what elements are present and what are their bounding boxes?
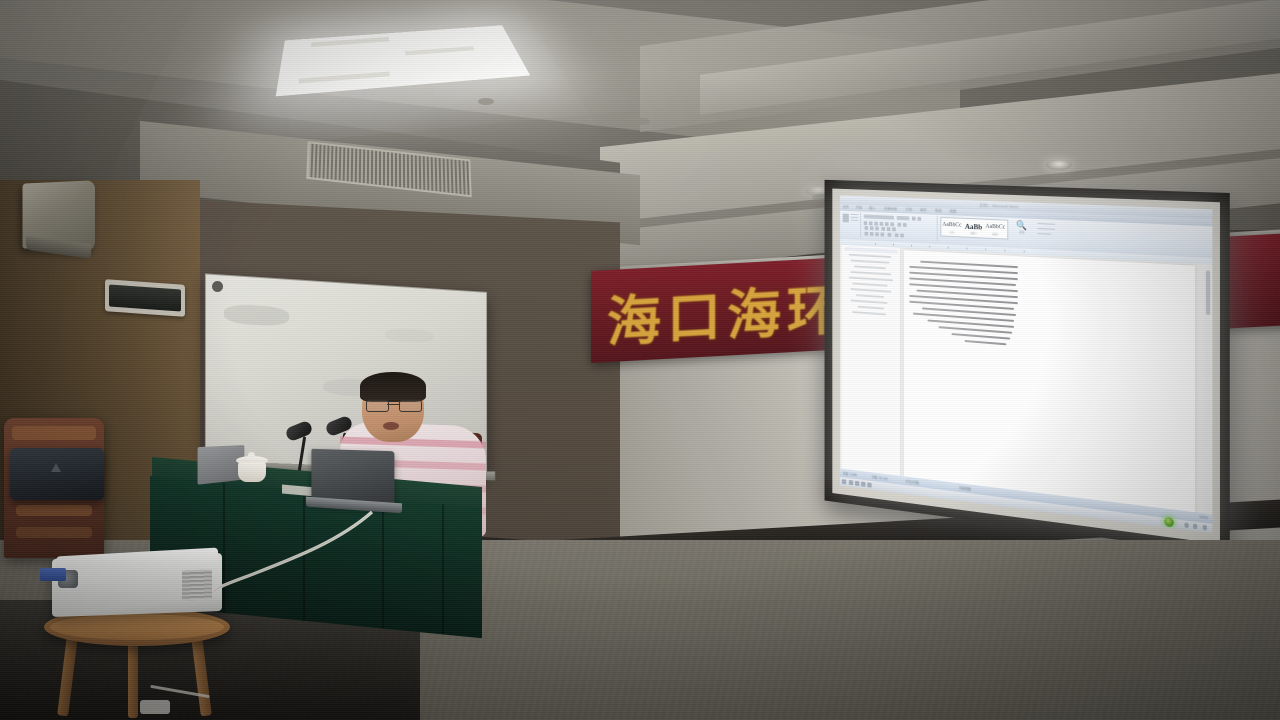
doc-paragraph-line xyxy=(939,326,1013,334)
style-normal-name: 正文 xyxy=(941,230,962,235)
nav-outline-item xyxy=(854,265,886,268)
word-title-text: 文档1 - Microsoft Word xyxy=(979,202,1018,209)
status-page[interactable]: 页面: 12/86 xyxy=(843,471,857,478)
nav-outline-item xyxy=(858,306,885,309)
tab-layout[interactable]: 页面布局 xyxy=(884,207,897,212)
presenter-hair xyxy=(360,372,426,402)
tray-network-icon xyxy=(1184,522,1189,527)
control-panel-display xyxy=(109,284,181,311)
projector-cable-plug xyxy=(40,568,66,581)
projection-screen: 文档1 - Microsoft Word 文件 开始 插入 页面布局 引用 邮件… xyxy=(825,180,1230,555)
style-normal-sample[interactable]: AaBbCc xyxy=(941,222,962,229)
editing-more-icon xyxy=(1037,233,1051,235)
tab-review[interactable]: 审阅 xyxy=(935,209,942,214)
taskbar-app-icon xyxy=(849,480,853,485)
bullets-icon xyxy=(865,226,869,230)
find-label: 查找 xyxy=(1012,230,1031,235)
increase-indent-icon xyxy=(887,227,891,231)
navigation-pane-header xyxy=(844,247,897,254)
copy-icon xyxy=(851,217,859,219)
navigation-pane[interactable] xyxy=(842,245,901,476)
lidded-teacup xyxy=(238,462,266,482)
taskbar-app-icon xyxy=(855,481,859,486)
tab-home[interactable]: 开始 xyxy=(856,206,862,211)
stool-leg xyxy=(128,640,138,718)
sort-icon xyxy=(892,227,896,231)
borders-icon xyxy=(900,233,904,237)
tray-volume-icon xyxy=(1192,523,1197,528)
nav-outline-item xyxy=(856,294,884,297)
nav-outline-item xyxy=(851,300,888,304)
style-heading2-sample[interactable]: AaBbCc xyxy=(984,224,1006,231)
tab-references[interactable]: 引用 xyxy=(906,208,913,213)
power-adapter xyxy=(140,700,170,714)
status-view[interactable]: 页面视图 xyxy=(959,485,971,491)
ribbon-group-editing-extra[interactable] xyxy=(1035,220,1059,247)
align-left-icon xyxy=(865,232,869,236)
status-language[interactable]: 中文(中国) xyxy=(906,478,920,485)
nav-outline-item xyxy=(852,283,887,287)
nav-outline-item xyxy=(849,254,891,258)
ribbon-group-styles[interactable]: AaBbCc 正文 AaBb 标题 1 AaBbCc 标题 2 xyxy=(940,217,1008,240)
cut-icon xyxy=(851,214,859,216)
align-center-icon xyxy=(870,232,874,236)
eyeglasses-icon xyxy=(366,400,420,410)
shrink-font-icon xyxy=(917,217,921,221)
status-words[interactable]: 字数: 32,145 xyxy=(872,474,888,481)
tab-mailings[interactable]: 邮件 xyxy=(920,208,927,213)
style-heading1-name: 标题 1 xyxy=(963,231,985,236)
presenter-mouth xyxy=(383,422,399,430)
word-document-area[interactable] xyxy=(840,245,1212,515)
stool-seat xyxy=(50,614,224,640)
ribbon-group-editing[interactable]: 🔍 查找 xyxy=(1012,221,1031,235)
nav-outline-item xyxy=(851,271,892,275)
justify-icon xyxy=(881,232,885,236)
scene-photo: 海口海环院环境 文档1 - Microsoft Word 文件 开始 插入 页面… xyxy=(0,0,1280,720)
shading-icon xyxy=(895,233,899,237)
smoke-detector-icon xyxy=(634,118,650,125)
wall-control-panel[interactable] xyxy=(105,279,185,317)
numbering-icon xyxy=(870,226,874,230)
bag-logo-icon xyxy=(50,462,62,473)
tab-insert[interactable]: 插入 xyxy=(869,206,875,211)
ribbon-group-clipboard[interactable] xyxy=(841,212,861,238)
doc-paragraph-line xyxy=(952,333,1011,340)
decrease-indent-icon xyxy=(881,227,885,231)
select-icon xyxy=(1037,228,1055,230)
replace-icon xyxy=(1037,223,1055,225)
font-size-box xyxy=(897,216,910,220)
vertical-scrollbar-thumb[interactable] xyxy=(1205,270,1209,315)
format-painter-icon xyxy=(851,220,859,222)
nav-outline-item xyxy=(852,311,886,315)
smoke-detector-icon xyxy=(478,98,494,105)
taskbar-app-icon xyxy=(867,482,871,487)
style-heading2-name: 标题 2 xyxy=(984,232,1006,237)
tab-view[interactable]: 视图 xyxy=(950,209,957,214)
grow-font-icon xyxy=(912,217,916,221)
align-right-icon xyxy=(875,232,879,236)
nav-outline-item xyxy=(851,288,892,292)
taskbar-app-icon xyxy=(861,482,865,487)
start-button-icon xyxy=(842,479,846,484)
tray-clock-icon xyxy=(1202,525,1207,530)
tab-file[interactable]: 文件 xyxy=(843,205,849,210)
doc-paragraph-line xyxy=(965,340,1007,346)
projection-screen-surface: 文档1 - Microsoft Word 文件 开始 插入 页面布局 引用 邮件… xyxy=(840,195,1212,533)
whiteboard-clip xyxy=(212,281,223,292)
multilevel-list-icon xyxy=(875,226,879,230)
teacup-knob xyxy=(248,452,255,458)
status-zoom[interactable]: 100% xyxy=(1199,515,1208,520)
projector-vent xyxy=(182,569,212,600)
line-spacing-icon xyxy=(888,233,892,237)
nav-outline-item xyxy=(851,260,890,264)
word-page[interactable] xyxy=(904,250,1195,512)
paste-icon xyxy=(843,214,849,223)
word-application: 文档1 - Microsoft Word 文件 开始 插入 页面布局 引用 邮件… xyxy=(840,195,1212,533)
antivirus-shield-icon[interactable] xyxy=(1164,516,1174,527)
nav-outline-item xyxy=(849,277,893,281)
font-name-box xyxy=(864,214,894,219)
downlight-icon xyxy=(1046,160,1072,170)
laptop-bag xyxy=(10,448,104,500)
